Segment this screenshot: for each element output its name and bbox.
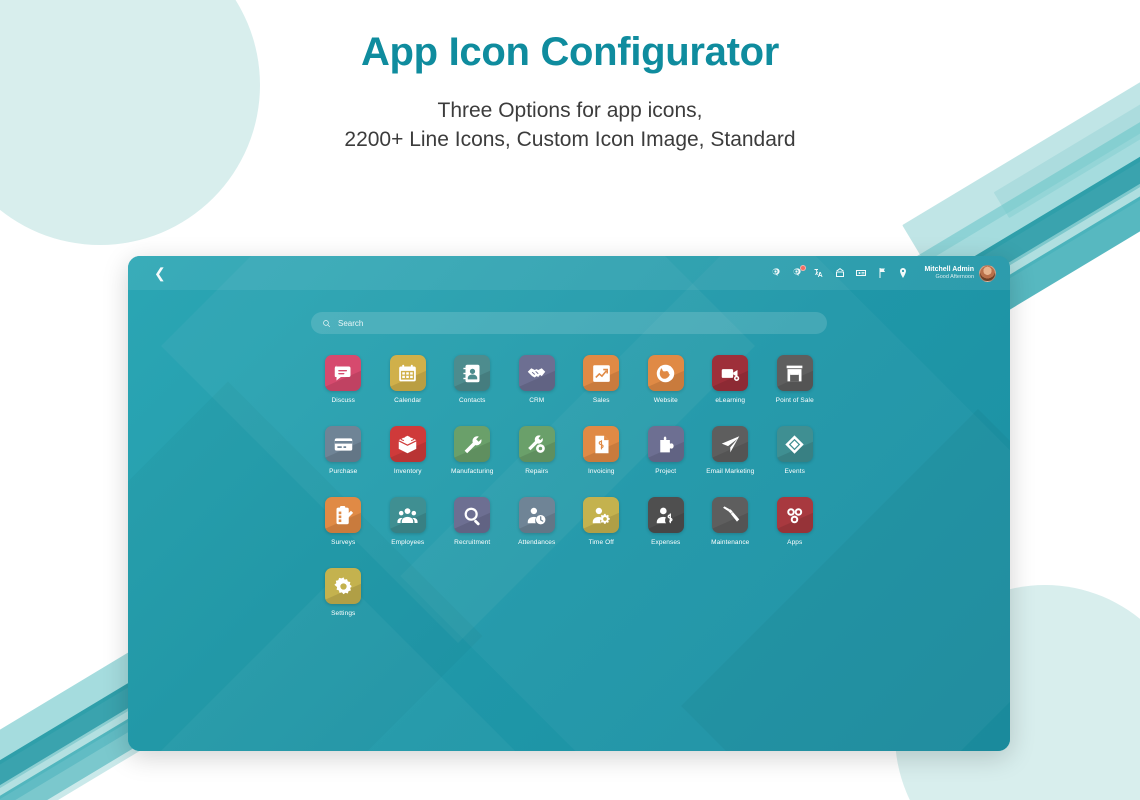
hammer-icon: [720, 505, 741, 526]
storefront-icon: [784, 363, 805, 384]
handshake-icon: [526, 363, 547, 384]
shop-icon[interactable]: [834, 267, 846, 279]
app-grid: DiscussCalendarContactsCRMSalesWebsiteeL…: [311, 355, 827, 617]
app-item[interactable]: Website: [634, 355, 699, 404]
app-item[interactable]: Surveys: [311, 497, 376, 546]
app-tile[interactable]: [583, 426, 619, 462]
app-item[interactable]: Sales: [569, 355, 634, 404]
search-icon: [322, 319, 331, 328]
app-label: Discuss: [332, 397, 355, 404]
app-label: Email Marketing: [706, 468, 754, 475]
app-label: Website: [654, 397, 678, 404]
app-tile[interactable]: [325, 568, 361, 604]
app-item[interactable]: Inventory: [376, 426, 441, 475]
app-label: Events: [785, 468, 805, 475]
page-subtitle-line-1: Three Options for app icons,: [0, 97, 1140, 126]
app-label: Contacts: [459, 397, 485, 404]
app-label: Inventory: [394, 468, 422, 475]
credit-card-icon: [333, 434, 354, 455]
ticket-icon: [784, 434, 805, 455]
gear-icon: [333, 576, 354, 597]
app-label: Attendances: [518, 539, 555, 546]
page-subtitle-line-2: 2200+ Line Icons, Custom Icon Image, Sta…: [0, 126, 1140, 155]
app-label: Maintenance: [711, 539, 749, 546]
app-tile[interactable]: [454, 426, 490, 462]
user-greeting: Good Afternoon: [924, 274, 974, 280]
app-tile[interactable]: [325, 497, 361, 533]
page-header: App Icon Configurator Three Options for …: [0, 0, 1140, 154]
notification-badge: [800, 265, 806, 271]
app-window: ❮: [128, 256, 1010, 751]
app-label: Surveys: [331, 539, 355, 546]
app-item[interactable]: Time Off: [569, 497, 634, 546]
app-item[interactable]: Repairs: [505, 426, 570, 475]
app-tile[interactable]: [390, 355, 426, 391]
app-label: Recruitment: [454, 539, 490, 546]
app-item[interactable]: CRM: [505, 355, 570, 404]
app-item[interactable]: Project: [634, 426, 699, 475]
app-tile[interactable]: [519, 426, 555, 462]
projector-icon: [720, 363, 741, 384]
paper-plane-icon: [720, 434, 741, 455]
app-item[interactable]: Maintenance: [698, 497, 763, 546]
app-tile[interactable]: [648, 355, 684, 391]
app-tile[interactable]: [325, 355, 361, 391]
app-item[interactable]: Point of Sale: [763, 355, 828, 404]
app-tile[interactable]: [390, 497, 426, 533]
display-card-icon[interactable]: [855, 267, 867, 279]
page-subtitle: Three Options for app icons, 2200+ Line …: [0, 97, 1140, 154]
app-item[interactable]: Calendar: [376, 355, 441, 404]
app-label: Time Off: [589, 539, 614, 546]
user-menu[interactable]: Mitchell Admin Good Afternoon: [924, 265, 996, 282]
app-item[interactable]: eLearning: [698, 355, 763, 404]
app-label: Project: [655, 468, 676, 475]
window-topbar: ❮: [128, 256, 1010, 290]
app-label: Settings: [331, 610, 355, 617]
translate-icon[interactable]: [813, 267, 825, 279]
app-tile[interactable]: [583, 497, 619, 533]
clipboard-edit-icon: [333, 505, 354, 526]
app-item[interactable]: Events: [763, 426, 828, 475]
people-icon: [397, 505, 418, 526]
chart-up-icon: [591, 363, 612, 384]
wrench-gear-icon: [526, 434, 547, 455]
app-label: Employees: [391, 539, 424, 546]
app-item[interactable]: Discuss: [311, 355, 376, 404]
chevron-left-icon[interactable]: ❮: [154, 266, 166, 280]
activities-icon[interactable]: [792, 267, 804, 279]
app-label: Purchase: [329, 468, 357, 475]
app-item[interactable]: Recruitment: [440, 497, 505, 546]
app-item[interactable]: Attendances: [505, 497, 570, 546]
app-item[interactable]: Purchase: [311, 426, 376, 475]
magnifier-icon: [462, 505, 483, 526]
app-tile[interactable]: [519, 497, 555, 533]
app-item[interactable]: Settings: [311, 568, 376, 617]
app-tile[interactable]: [325, 426, 361, 462]
wrench-icon: [462, 434, 483, 455]
app-label: Repairs: [525, 468, 548, 475]
user-identity: Mitchell Admin Good Afternoon: [924, 266, 974, 280]
app-label: Apps: [787, 539, 802, 546]
blocks-icon: [784, 505, 805, 526]
app-label: Sales: [593, 397, 610, 404]
location-pin-icon[interactable]: [897, 267, 909, 279]
flag-icon[interactable]: [876, 267, 888, 279]
app-item[interactable]: Invoicing: [569, 426, 634, 475]
app-label: CRM: [529, 397, 544, 404]
app-tile[interactable]: [390, 426, 426, 462]
page-title: App Icon Configurator: [0, 30, 1140, 75]
app-tile[interactable]: [777, 497, 813, 533]
person-dollar-icon: [655, 505, 676, 526]
topbar-icon-tray: Mitchell Admin Good Afternoon: [771, 265, 996, 282]
app-tile[interactable]: [712, 497, 748, 533]
app-tile[interactable]: [648, 497, 684, 533]
person-gear-icon: [591, 505, 612, 526]
search-area: Search: [128, 290, 1010, 334]
app-tile[interactable]: [648, 426, 684, 462]
app-tile[interactable]: [519, 355, 555, 391]
user-name: Mitchell Admin: [924, 266, 974, 274]
app-tile[interactable]: [712, 355, 748, 391]
app-item[interactable]: Email Marketing: [698, 426, 763, 475]
search-placeholder: Search: [338, 319, 363, 328]
messages-icon[interactable]: [771, 267, 783, 279]
app-tile[interactable]: [583, 355, 619, 391]
calendar-icon: [397, 363, 418, 384]
app-label: Invoicing: [588, 468, 615, 475]
globe-icon: [655, 363, 676, 384]
app-tile[interactable]: [777, 426, 813, 462]
puzzle-icon: [655, 434, 676, 455]
app-label: Point of Sale: [776, 397, 814, 404]
app-tile[interactable]: [454, 355, 490, 391]
app-item[interactable]: Employees: [376, 497, 441, 546]
app-tile[interactable]: [454, 497, 490, 533]
app-tile[interactable]: [712, 426, 748, 462]
app-label: Calendar: [394, 397, 421, 404]
app-item[interactable]: Apps: [763, 497, 828, 546]
contact-card-icon: [462, 363, 483, 384]
app-label: eLearning: [715, 397, 745, 404]
app-item[interactable]: Expenses: [634, 497, 699, 546]
app-label: Expenses: [651, 539, 680, 546]
app-label: Manufacturing: [451, 468, 494, 475]
invoice-icon: [591, 434, 612, 455]
search-input[interactable]: Search: [311, 312, 827, 334]
avatar[interactable]: [979, 265, 996, 282]
app-tile[interactable]: [777, 355, 813, 391]
app-item[interactable]: Contacts: [440, 355, 505, 404]
chat-bubbles-icon: [333, 363, 354, 384]
person-clock-icon: [526, 505, 547, 526]
app-grid-area: DiscussCalendarContactsCRMSalesWebsiteeL…: [128, 334, 1010, 617]
app-item[interactable]: Manufacturing: [440, 426, 505, 475]
open-box-icon: [397, 434, 418, 455]
